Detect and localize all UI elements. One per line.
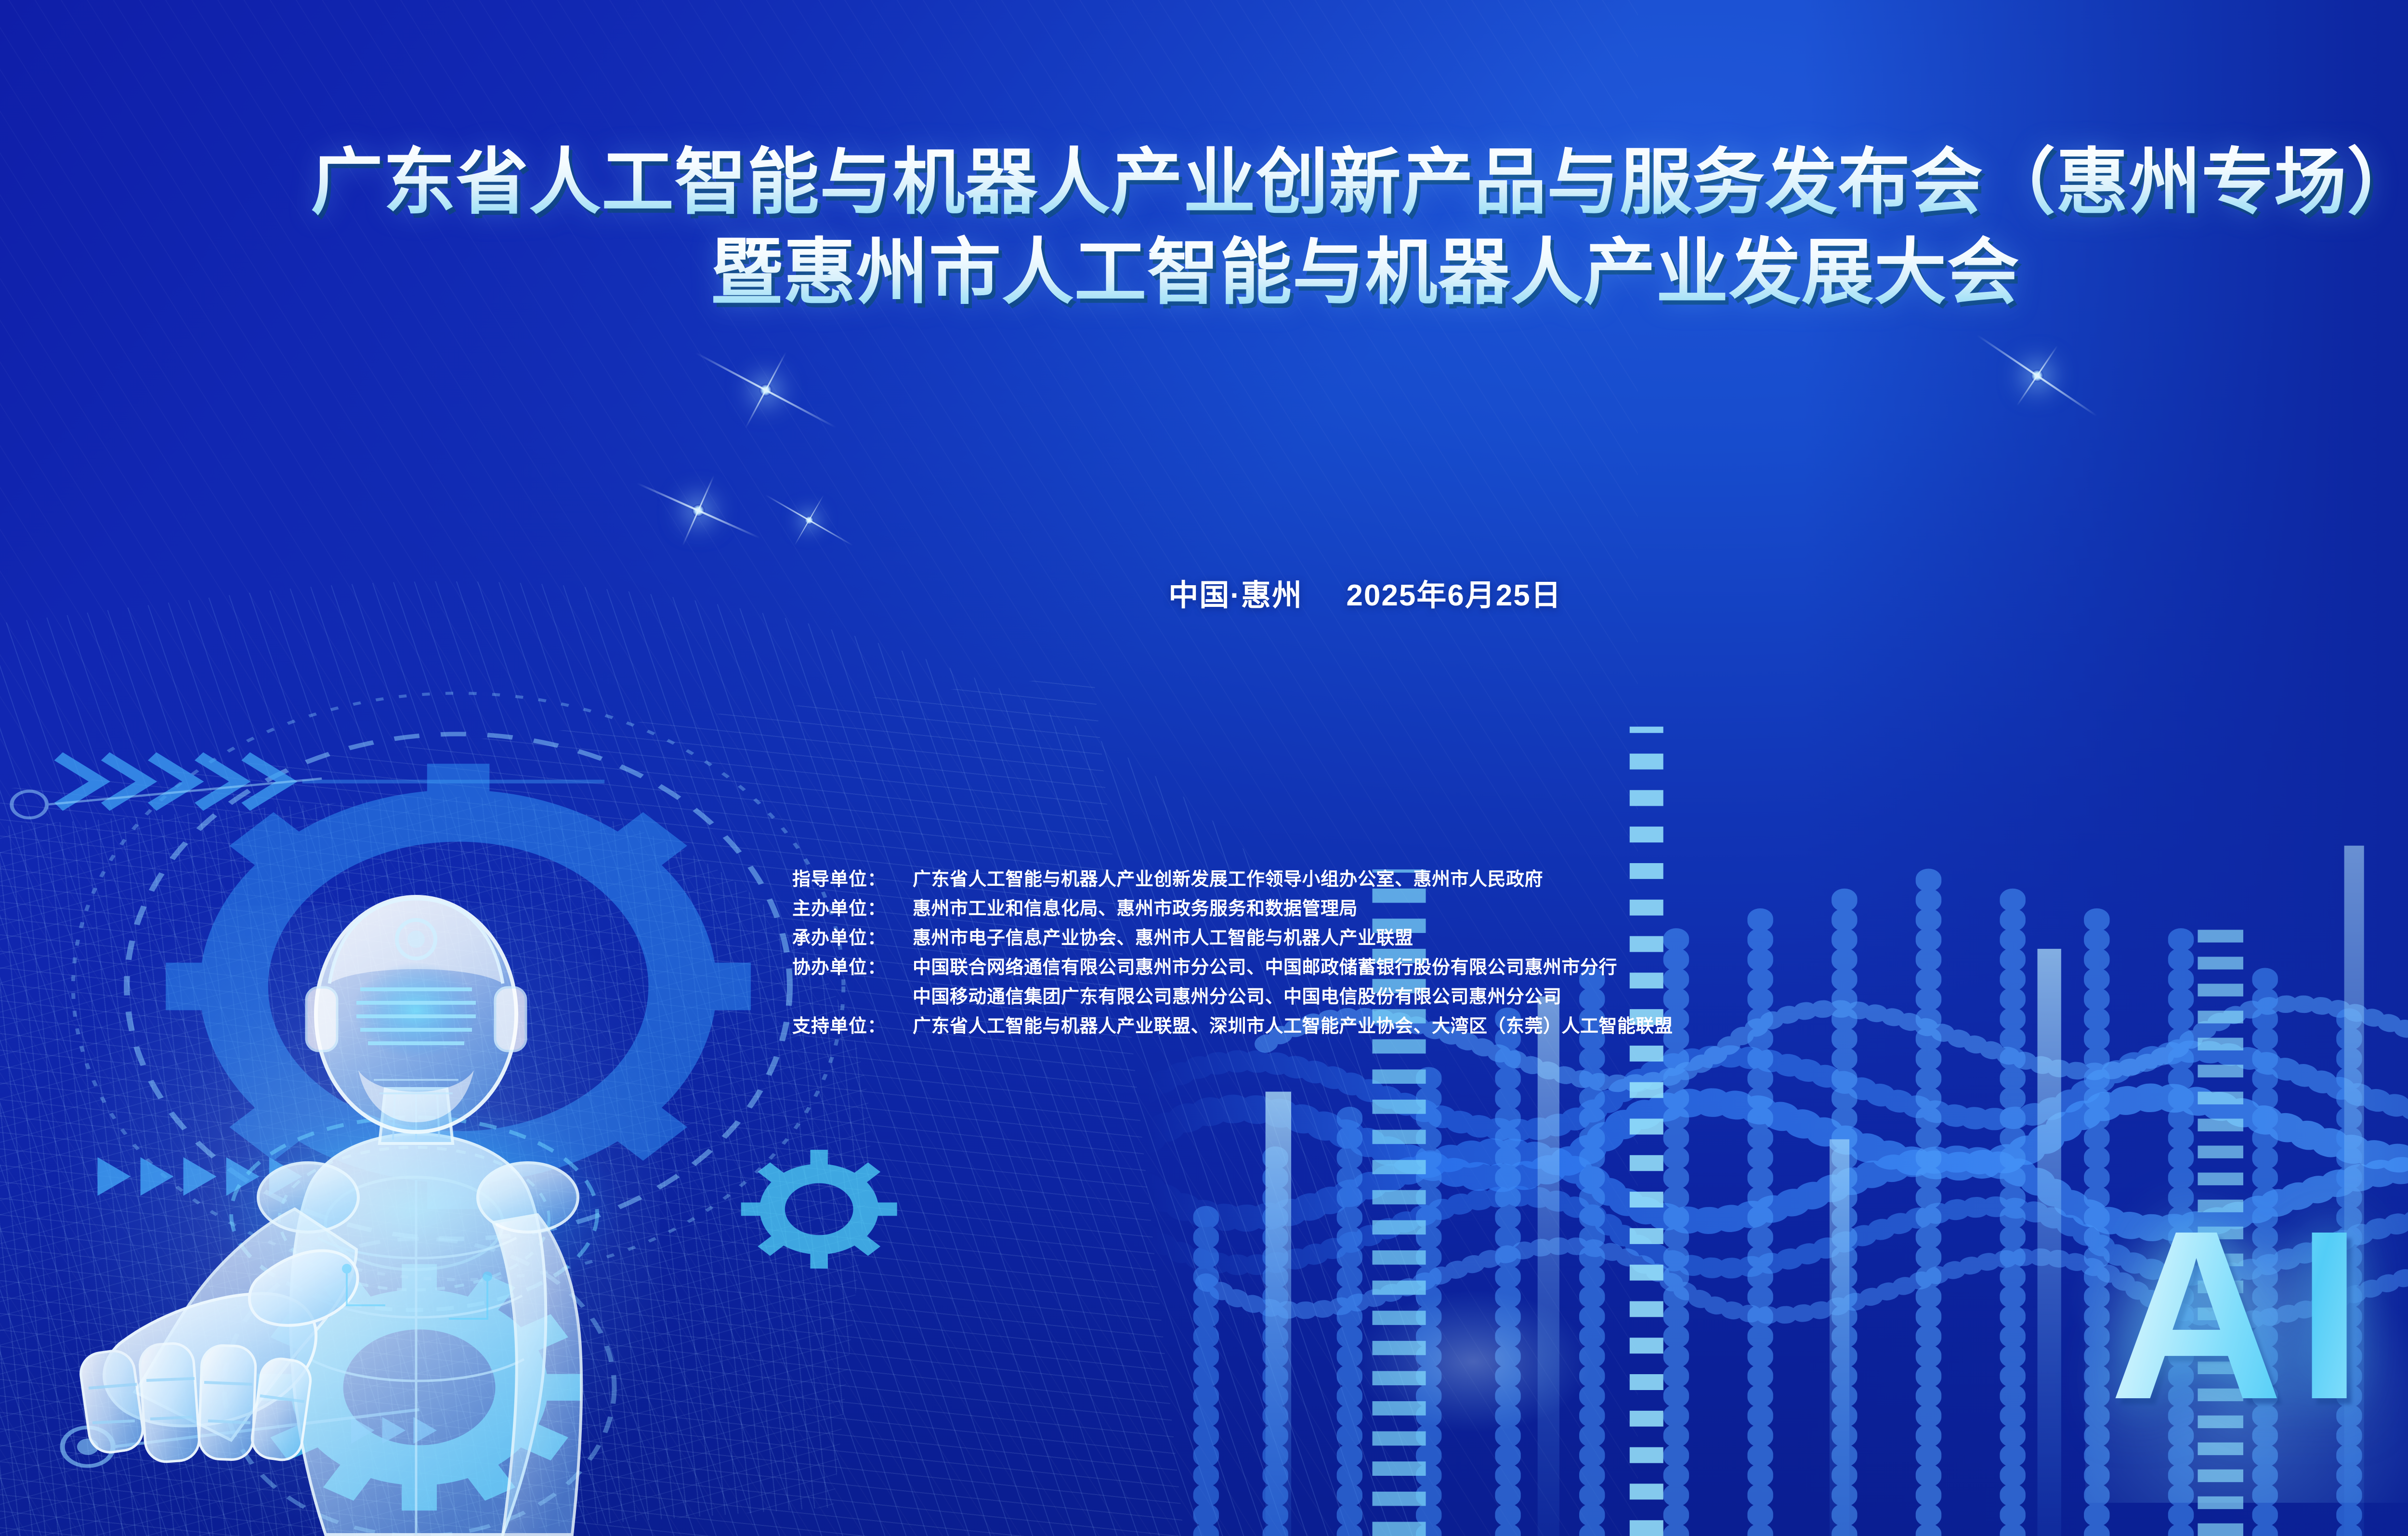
credit-row-guidance: 指导单位： 广东省人工智能与机器人产业创新发展工作领导小组办公室、惠州市人民政府 [792, 869, 1673, 890]
credit-label: 承办单位： [792, 928, 913, 949]
title-block: 广东省人工智能与机器人产业创新产品与服务发布会（惠州专场） 暨惠州市人工智能与机… [0, 140, 2408, 315]
credit-value: 惠州市工业和信息化局、惠州市政务服务和数据管理局 [913, 899, 1358, 919]
ai-logo: AI [2109, 1195, 2375, 1435]
credit-label: 指导单位： [792, 869, 913, 890]
page-title-line1: 广东省人工智能与机器人产业创新产品与服务发布会（惠州专场） [0, 140, 2408, 225]
credit-value: 广东省人工智能与机器人产业联盟、深圳市人工智能产业协会、大湾区（东莞）人工智能联… [913, 1016, 1673, 1037]
subtitle: 中国·惠州 2025年6月25日 [0, 571, 2408, 614]
credit-value-continuation: 中国移动通信集团广东有限公司惠州分公司、中国电信股份有限公司惠州分公司 [913, 987, 1673, 1008]
credit-value: 惠州市电子信息产业协会、惠州市人工智能与机器人产业联盟 [913, 928, 1413, 949]
credit-row-support: 支持单位： 广东省人工智能与机器人产业联盟、深圳市人工智能产业协会、大湾区（东莞… [792, 1016, 1673, 1037]
credit-row-coorganizer: 协办单位： 中国联合网络通信有限公司惠州市分公司、中国邮政储蓄银行股份有限公司惠… [792, 958, 1673, 978]
credit-value: 广东省人工智能与机器人产业创新发展工作领导小组办公室、惠州市人民政府 [913, 869, 1543, 890]
credit-label: 支持单位： [792, 1016, 913, 1037]
robot-figure [67, 891, 674, 1536]
gear-icon [741, 1150, 897, 1269]
organizer-credits: 指导单位： 广东省人工智能与机器人产业创新发展工作领导小组办公室、惠州市人民政府… [792, 869, 1673, 1046]
credit-row-organizer: 承办单位： 惠州市电子信息产业协会、惠州市人工智能与机器人产业联盟 [792, 928, 1673, 949]
subtitle-location: 中国·惠州 [1168, 579, 1303, 612]
subtitle-date: 2025年6月25日 [1346, 579, 1561, 612]
credit-row-host: 主办单位： 惠州市工业和信息化局、惠州市政务服务和数据管理局 [792, 899, 1673, 919]
credit-value: 中国联合网络通信有限公司惠州市分公司、中国邮政储蓄银行股份有限公司惠州市分行 [913, 958, 1617, 978]
conference-banner: 广东省人工智能与机器人产业创新产品与服务发布会（惠州专场） 暨惠州市人工智能与机… [0, 0, 2408, 1536]
credit-label: 协办单位： [792, 958, 913, 978]
page-title-line2: 暨惠州市人工智能与机器人产业发展大会 [0, 230, 2408, 315]
credit-label: 主办单位： [792, 899, 913, 919]
